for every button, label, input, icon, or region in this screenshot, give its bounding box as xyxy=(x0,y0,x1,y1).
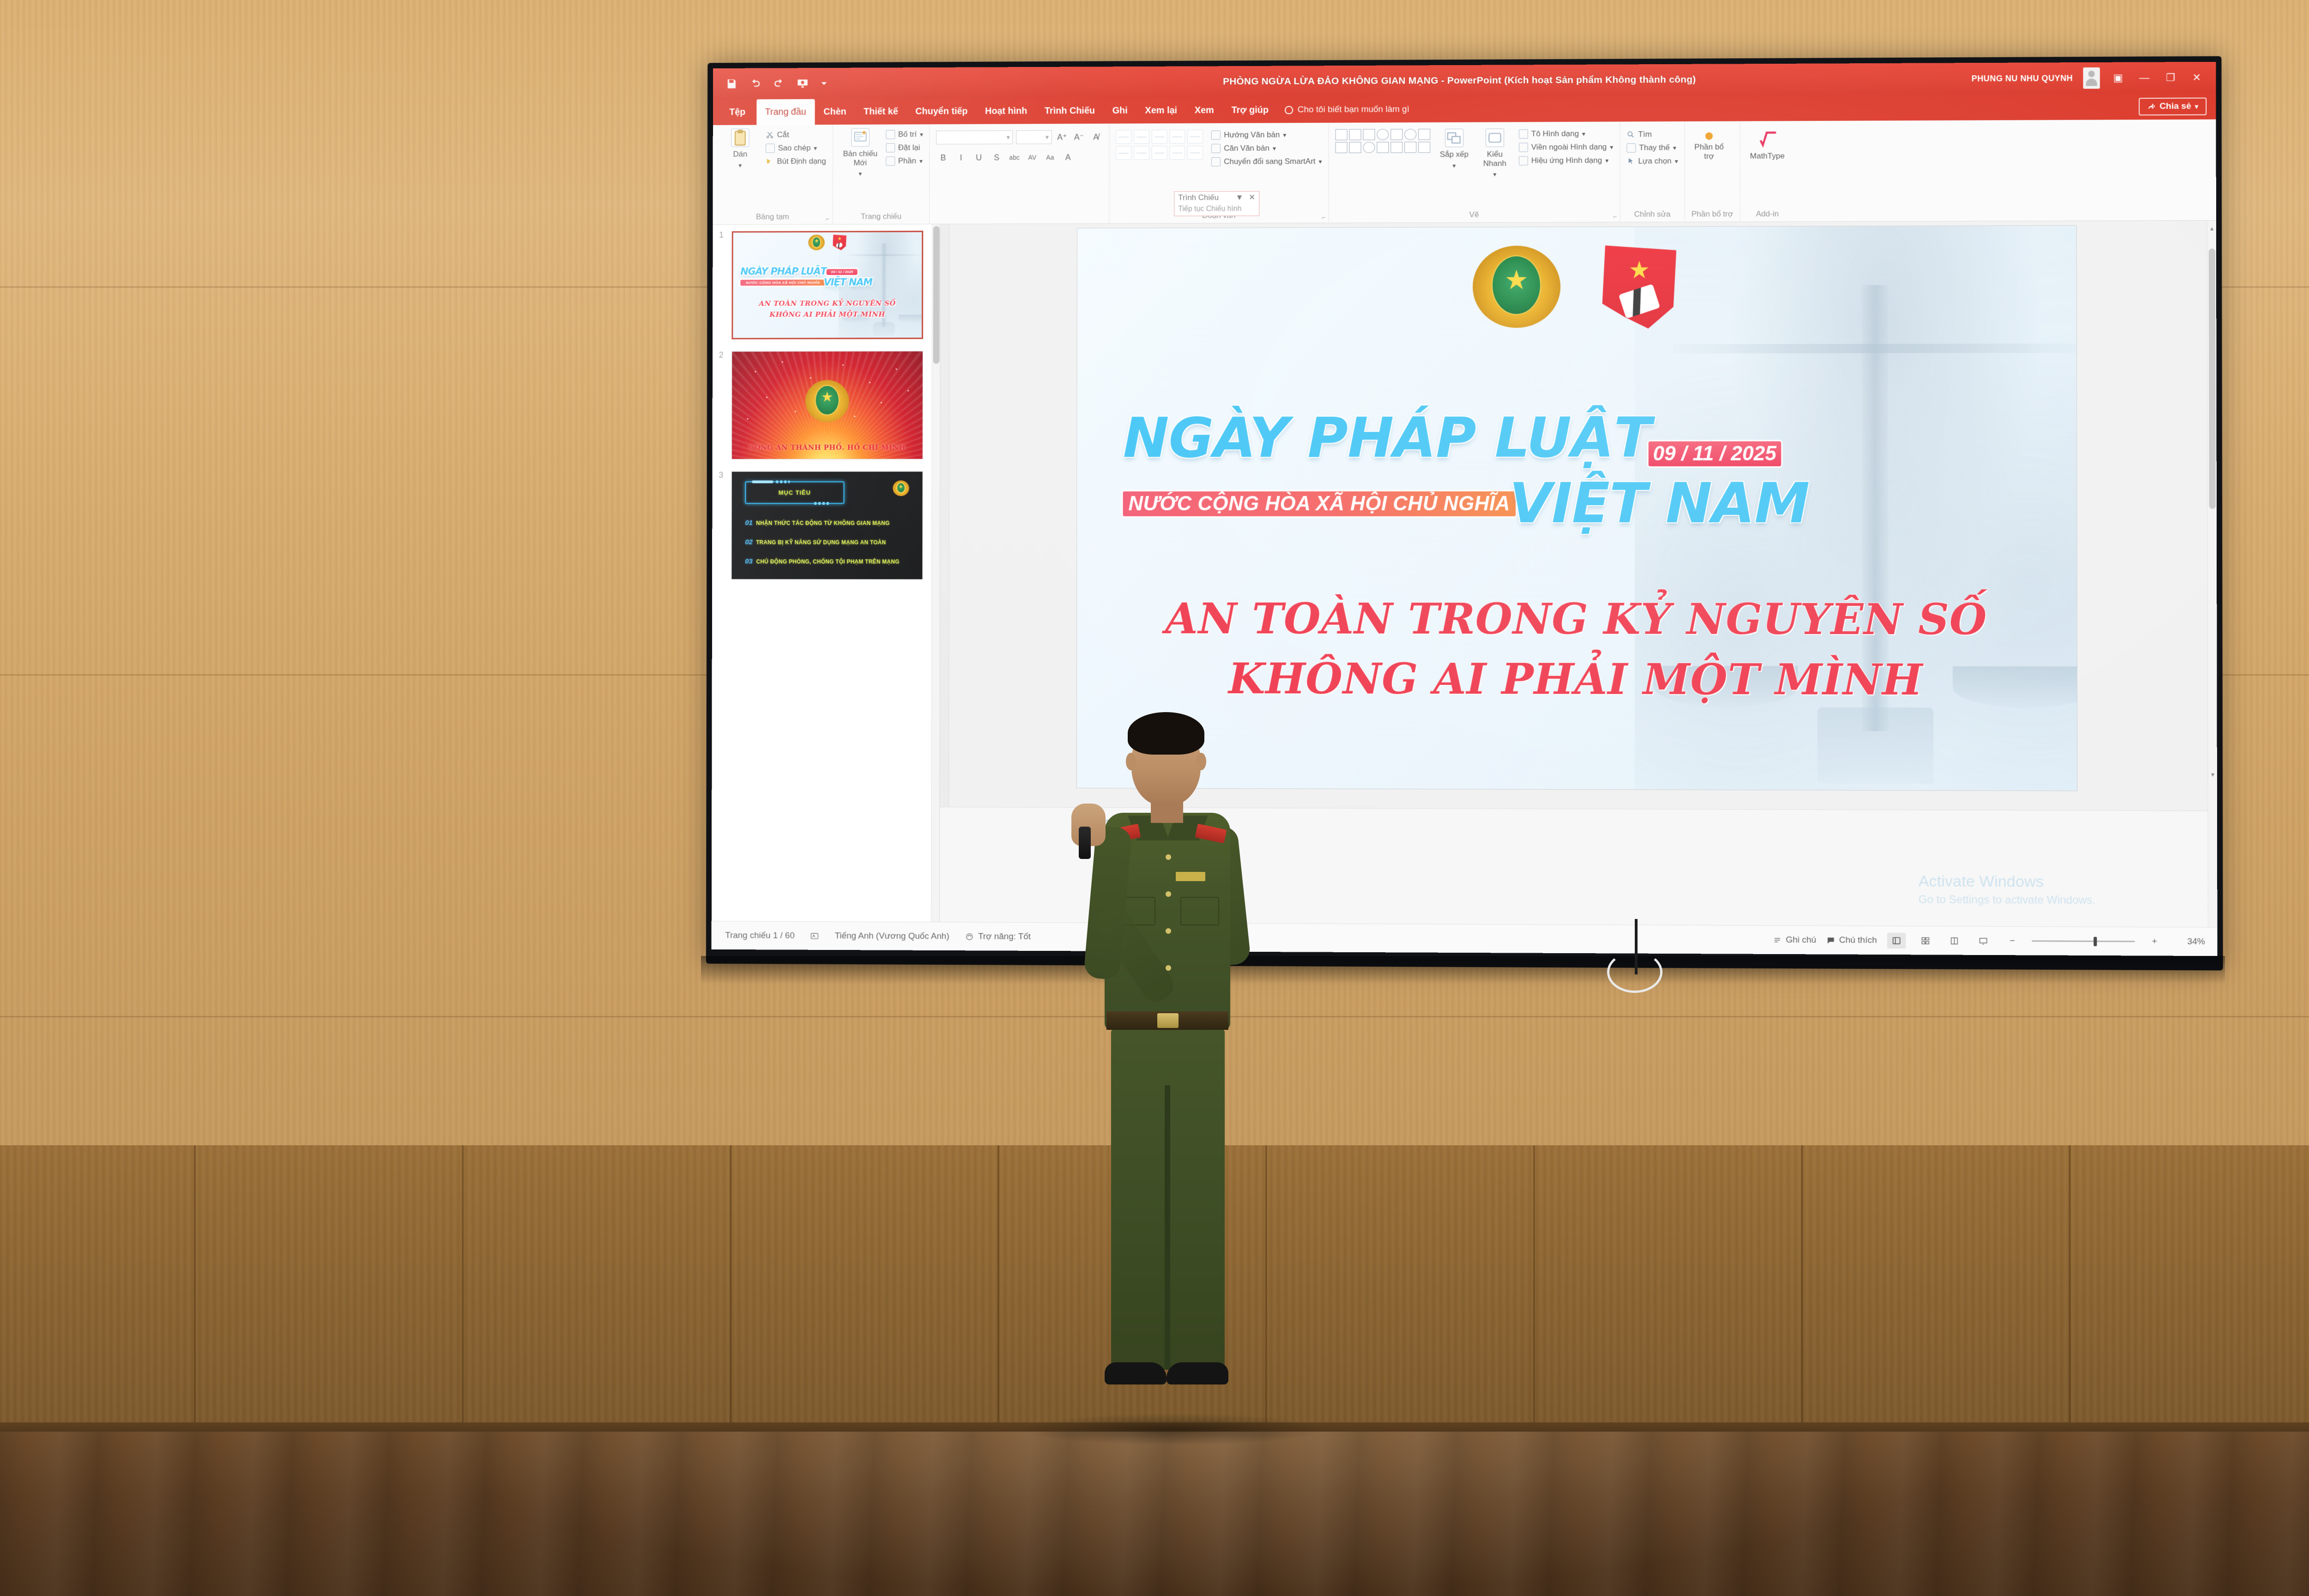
shape-diamond[interactable] xyxy=(1349,142,1361,153)
thumb3-item-text-1: NHẬN THỨC TÁC ĐỘNG TỪ KHÔNG GIAN MẠNG xyxy=(756,520,889,526)
arrange-icon xyxy=(1445,129,1463,147)
zoom-level[interactable]: 34% xyxy=(2174,937,2205,947)
align-right-button[interactable] xyxy=(1152,146,1167,160)
thumbnail-slide-1-wrap: 1 ★ ★ xyxy=(731,231,933,339)
thumbnail-number-2: 2 xyxy=(719,351,724,360)
decrease-font-size-button[interactable]: A⁻ xyxy=(1072,130,1086,144)
group-label-slides: Trang chiếu xyxy=(839,212,923,224)
undo-icon[interactable] xyxy=(750,78,762,90)
tell-me-label: Cho tôi biết bạn muốn làm gì xyxy=(1298,104,1409,115)
copy-label: Sao chép xyxy=(778,144,811,153)
share-button[interactable]: Chia sẻ ▾ xyxy=(2139,97,2207,115)
shape-rounded-rect[interactable] xyxy=(1390,129,1402,140)
tab-xem-lai[interactable]: Xem lại xyxy=(1136,97,1186,123)
zoom-slider[interactable] xyxy=(2032,937,2135,946)
cut-label: Cắt xyxy=(777,130,789,139)
thumbnail-slide-3[interactable]: MỤC TIÊU ★ 01 NHẬN THỨC TÁC ĐỘNG TỪ KHÔN… xyxy=(731,471,923,580)
format-painter-icon xyxy=(766,157,774,166)
group-label-editing: Chỉnh sửa xyxy=(1626,210,1678,222)
thumbnail-slide-1[interactable]: ★ ★ NGÀY PHÁP LUẬT09 / 11 / 2025 NƯỚC C xyxy=(731,231,923,339)
search-icon xyxy=(1626,130,1635,139)
mic-stand-ring xyxy=(1607,951,1662,993)
ribbon-group-editing: Tìm Thay thế▾ Lựa chọn▾ Chỉnh sửa xyxy=(1620,121,1685,222)
layout-button[interactable]: Bố trí▾ xyxy=(886,130,923,139)
close-button[interactable]: ✕ xyxy=(2189,70,2205,85)
activate-windows-watermark: Activate Windows Go to Settings to activ… xyxy=(1918,871,2095,908)
increase-indent-button[interactable] xyxy=(1170,130,1185,144)
thumbnail-slide-3-wrap: 3 MỤC TIÊU ★ 01 NH xyxy=(731,471,932,580)
shape-effects-button[interactable]: Hiệu ứng Hình dạng▾ xyxy=(1519,156,1613,165)
arrange-button[interactable]: Sắp xếp▾ xyxy=(1438,129,1471,169)
shape-textbox[interactable] xyxy=(1418,129,1430,140)
shape-star[interactable] xyxy=(1418,142,1430,153)
group-label-clipboard: Bảng tạm xyxy=(719,212,826,224)
quick-styles-button[interactable]: Kiểu Nhanh▾ xyxy=(1478,128,1511,178)
shape-oval[interactable] xyxy=(1377,129,1389,140)
font-name-box[interactable]: ▾ xyxy=(937,130,1013,144)
activate-windows-subtitle: Go to Settings to activate Windows. xyxy=(1918,892,2095,908)
slideshow-popup-close-icon[interactable]: ✕ xyxy=(1249,193,1255,202)
canvas-scrollbar-thumb[interactable] xyxy=(2209,248,2216,509)
format-painter-label: Bút Định dạng xyxy=(777,157,826,166)
slideshow-icon[interactable] xyxy=(1974,933,1992,949)
reset-icon xyxy=(886,143,895,152)
slide-thumbnail-pane[interactable]: 1 ★ ★ xyxy=(712,224,941,922)
paragraph-buttons[interactable] xyxy=(1116,130,1203,160)
align-text-button[interactable]: Căn Văn bản▾ xyxy=(1211,144,1322,153)
strikethrough-button[interactable]: abc xyxy=(1008,151,1022,164)
thumb3-item-num-2: 02 xyxy=(745,538,752,546)
convert-smartart-button[interactable]: Chuyển đổi sang SmartArt▾ xyxy=(1211,157,1322,167)
minimize-button[interactable]: — xyxy=(2136,70,2152,85)
slideshow-popup-subtitle: Tiếp tục Chiếu hình xyxy=(1174,204,1259,216)
mathtype-sqrt-icon xyxy=(1758,130,1777,149)
paste-button[interactable]: Dán ▾ xyxy=(719,128,761,169)
zoom-slider-knob[interactable] xyxy=(2094,937,2097,946)
tab-ghi[interactable]: Ghi xyxy=(1104,98,1136,124)
bullets-button[interactable] xyxy=(1116,130,1132,144)
copy-button[interactable]: Sao chép ▾ xyxy=(766,144,826,153)
ribbon-body: Dán ▾ Cắt Sao chép ▾ xyxy=(713,119,2216,225)
addins-button[interactable]: Phần bổ trợ xyxy=(1692,133,1727,161)
thumb1-date-chip: 09 / 11 / 2025 xyxy=(827,269,858,275)
activate-windows-title: Activate Windows xyxy=(1918,871,2095,893)
tab-chuyen-tiep[interactable]: Chuyển tiếp xyxy=(907,98,976,124)
thumb1-logo-line2: VIỆT NAM xyxy=(824,278,872,287)
replace-icon xyxy=(1626,143,1636,152)
copy-icon xyxy=(766,144,775,153)
slide-date-chip: 09 / 11 / 2025 xyxy=(1648,441,1781,466)
columns-button[interactable] xyxy=(1188,146,1203,160)
select-button[interactable]: Lựa chọn▾ xyxy=(1626,157,1678,166)
increase-font-size-button[interactable]: A⁺ xyxy=(1055,130,1069,144)
zoom-out-button[interactable]: − xyxy=(2003,933,2022,949)
lightbulb-icon xyxy=(1285,106,1293,114)
thumbnail-number-1: 1 xyxy=(719,230,724,240)
align-text-icon xyxy=(1211,144,1221,153)
tab-trang-dau[interactable]: Trang đầu xyxy=(756,99,815,125)
shape-effects-icon xyxy=(1519,156,1528,165)
shape-chevron[interactable] xyxy=(1390,142,1402,153)
thumbnail-scrollbar-thumb[interactable] xyxy=(933,226,940,364)
tab-chen[interactable]: Chèn xyxy=(815,99,855,125)
new-slide-button[interactable]: Bản chiếu Mới ▾ xyxy=(839,128,881,177)
cursor-icon xyxy=(1626,157,1635,165)
italic-button[interactable]: I xyxy=(954,151,968,164)
paste-label: Dán xyxy=(733,150,747,158)
tell-me-search[interactable]: Cho tôi biết bạn muốn làm gì xyxy=(1277,97,1409,123)
normal-view-icon[interactable] xyxy=(1887,932,1906,948)
slide-logo-line2: VIỆT NAM xyxy=(1509,478,1809,530)
ribbon-group-drawing: Sắp xếp▾ Kiểu Nhanh▾ Tô Hình dạng▾ Viền … xyxy=(1329,121,1620,223)
shadow-button[interactable]: S xyxy=(990,151,1003,164)
quick-access-toolbar[interactable] xyxy=(713,78,828,90)
drawing-dialog-launcher[interactable]: ⌐ xyxy=(1613,212,1617,220)
paste-icon xyxy=(731,129,749,147)
shape-callout[interactable] xyxy=(1404,142,1416,153)
shape-line[interactable] xyxy=(1335,129,1347,140)
zoom-in-button[interactable]: + xyxy=(2145,934,2164,949)
projection-screen: PHÒNG NGỪA LỪA ĐẢO KHÔNG GIAN MẠNG - Pow… xyxy=(712,62,2218,956)
tab-hoat-hinh[interactable]: Hoạt hình xyxy=(976,98,1036,124)
thumb2-caption: CÔNG AN THÀNH PHỐ. HỒ CHÍ MINH xyxy=(732,443,923,451)
titlebar-right-group: PHUNG NU NHU QUYNH ▣ — ❐ ✕ xyxy=(1971,67,2205,89)
slide-headline-1: AN TOÀN TRONG KỶ NGUYÊN SỐ xyxy=(1077,592,2077,647)
underline-button[interactable]: U xyxy=(972,151,986,164)
youth-union-emblem-icon: ★ xyxy=(833,235,846,250)
canvas-vertical-scrollbar[interactable]: ▲ ▼ xyxy=(2207,221,2218,927)
mathtype-button[interactable]: MathType xyxy=(1747,130,1789,161)
format-painter-button[interactable]: Bút Định dạng xyxy=(766,157,826,166)
redo-icon[interactable] xyxy=(773,78,785,90)
character-spacing-button[interactable]: AV xyxy=(1025,151,1039,164)
thumb1-logo-line1: NGÀY PHÁP LUẬT xyxy=(740,266,826,277)
thumbnail-slide-2-wrap: 2 xyxy=(731,351,933,459)
language-indicator[interactable]: Tiếng Anh (Vương Quốc Anh) xyxy=(835,931,949,942)
change-case-button[interactable]: Aa xyxy=(1043,151,1057,164)
spellcheck-icon[interactable] xyxy=(810,931,819,940)
cut-button[interactable]: Cắt xyxy=(766,130,826,139)
police-emblem-icon: ★ xyxy=(893,480,909,496)
notes-toggle-button[interactable]: Ghi chú xyxy=(1773,935,1816,945)
scissors-icon xyxy=(766,131,774,139)
thumb3-item-text-2: TRANG BỊ KỸ NĂNG SỬ DỤNG MẠNG AN TOÀN xyxy=(756,539,886,546)
tab-tro-giup[interactable]: Trợ giúp xyxy=(1223,97,1277,123)
bold-button[interactable]: B xyxy=(936,151,950,165)
group-label-drawing: Vẽ xyxy=(1335,210,1613,223)
clipboard-dialog-launcher[interactable]: ⌐ xyxy=(826,215,829,222)
police-emblem-icon: ★ xyxy=(805,380,849,422)
text-direction-button[interactable]: Hướng Văn bản▾ xyxy=(1211,130,1322,140)
shape-fill-icon xyxy=(1519,129,1528,139)
youth-union-emblem-icon: ★ xyxy=(1602,245,1677,328)
align-left-button[interactable] xyxy=(1116,146,1132,160)
reset-button[interactable]: Đặt lại xyxy=(886,143,923,152)
police-emblem-icon: ★ xyxy=(809,235,825,250)
shape-outline-button[interactable]: Viền ngoài Hình dạng▾ xyxy=(1519,142,1613,152)
slide-logo-line1: NGÀY PHÁP LUẬT xyxy=(1123,406,1651,471)
numbering-button[interactable] xyxy=(1134,130,1149,144)
shape-triangle[interactable] xyxy=(1335,142,1347,153)
slide-counter[interactable]: Trang chiếu 1 / 60 xyxy=(725,931,795,941)
thumb1-headline-2: KHÔNG AI PHẢI MỘT MÌNH xyxy=(733,310,922,319)
powerpoint-window: PHÒNG NGỪA LỪA ĐẢO KHÔNG GIAN MẠNG - Pow… xyxy=(712,62,2218,956)
tab-trinh-chieu[interactable]: Trình Chiếu xyxy=(1036,98,1104,124)
shape-outline-icon xyxy=(1519,143,1528,152)
new-slide-label: Bản chiếu Mới xyxy=(839,149,881,167)
ribbon-group-slides: Bản chiếu Mới ▾ Bố trí▾ Đặt lại Phần▾ Tr… xyxy=(833,124,930,224)
paragraph-dialog-launcher[interactable]: ⌐ xyxy=(1322,213,1325,221)
thumbnail-scrollbar[interactable] xyxy=(931,224,940,922)
restore-button[interactable]: ❐ xyxy=(2163,70,2178,85)
thumbnail-number-3: 3 xyxy=(719,471,723,480)
slide-sorter-icon[interactable] xyxy=(1916,932,1934,948)
thumb1-logo-sub: NƯỚC CỘNG HÒA XÃ HỘI CHỦ NGHĨA xyxy=(740,280,825,286)
align-center-button[interactable] xyxy=(1134,146,1149,160)
start-slideshow-icon[interactable] xyxy=(797,78,809,90)
font-size-box[interactable]: ▾ xyxy=(1016,130,1052,144)
justify-button[interactable] xyxy=(1170,146,1185,160)
font-color-button[interactable]: A xyxy=(1061,151,1075,164)
accessibility-status[interactable]: Trợ năng: Tốt xyxy=(965,931,1031,942)
shape-rect[interactable] xyxy=(1363,129,1375,140)
slide-logo-sub: NƯỚC CỘNG HÒA XÃ HỘI CHỦ NGHĨA xyxy=(1123,491,1516,516)
clear-formatting-button[interactable]: A̸ xyxy=(1089,130,1103,144)
find-button[interactable]: Tìm xyxy=(1626,130,1678,139)
new-slide-icon xyxy=(851,128,870,147)
shape-arrow[interactable] xyxy=(1349,129,1361,140)
account-name[interactable]: PHUNG NU NHU QUYNH xyxy=(1971,73,2073,84)
decrease-indent-button[interactable] xyxy=(1152,130,1167,144)
replace-button[interactable]: Thay thế▾ xyxy=(1626,143,1678,152)
line-spacing-button[interactable] xyxy=(1188,130,1203,144)
thumb3-item-num-3: 03 xyxy=(745,557,752,565)
ribbon-group-addins: Phần bổ trợ Phần bổ trợ xyxy=(1685,121,1740,222)
tab-tep[interactable]: Tệp xyxy=(719,99,756,125)
quick-styles-icon xyxy=(1486,128,1504,147)
thumbnail-slide-2[interactable]: ★ CÔNG AN THÀNH PHỐ. HỒ CHÍ MINH xyxy=(731,351,923,459)
shape-circle[interactable] xyxy=(1404,129,1416,140)
tab-xem[interactable]: Xem xyxy=(1186,97,1223,123)
slideshow-popup-caret-icon[interactable]: ▼ xyxy=(1235,193,1243,202)
shape-pentagon[interactable] xyxy=(1377,142,1389,153)
shape-fill-button[interactable]: Tô Hình dạng▾ xyxy=(1519,129,1613,139)
group-label-addin: Add-in xyxy=(1747,209,1788,221)
ribbon-display-options-icon[interactable]: ▣ xyxy=(2110,70,2126,86)
share-label: Chia sẻ xyxy=(2159,101,2191,111)
share-icon xyxy=(2147,103,2156,111)
shape-gallery[interactable] xyxy=(1335,129,1430,153)
presenter-person xyxy=(1062,688,1284,1473)
thumb3-item-text-3: CHỦ ĐỘNG PHÒNG, CHỐNG TỘI PHẠM TRÊN MẠNG xyxy=(756,558,900,565)
reading-view-icon[interactable] xyxy=(1945,933,1964,949)
work-area: 1 ★ ★ xyxy=(712,221,2218,927)
comments-label: Chú thích xyxy=(1839,935,1877,945)
slideshow-popup-title: Trình Chiếu xyxy=(1178,193,1219,202)
shape-ellipse[interactable] xyxy=(1363,142,1375,153)
avatar[interactable] xyxy=(2083,67,2100,89)
addin-dot-icon xyxy=(1705,133,1713,140)
thumb1-headline-1: AN TOÀN TRONG KỶ NGUYÊN SỐ xyxy=(733,299,922,308)
customize-qat-icon[interactable] xyxy=(820,80,828,87)
group-label-addins: Phần bổ trợ xyxy=(1692,210,1733,222)
smartart-icon xyxy=(1211,157,1221,166)
text-direction-icon xyxy=(1211,131,1221,140)
tab-thiet-ke[interactable]: Thiết kế xyxy=(855,99,907,125)
slideshow-popup[interactable]: Trình Chiếu ▼ ✕ Tiếp tục Chiếu hình xyxy=(1174,191,1259,216)
thumb3-title: MỤC TIÊU xyxy=(745,481,845,504)
thumb3-item-num-1: 01 xyxy=(745,519,752,527)
section-button[interactable]: Phần▾ xyxy=(886,157,923,166)
notes-toggle-label: Ghi chú xyxy=(1786,935,1816,945)
comments-button[interactable]: Chú thích xyxy=(1826,935,1877,946)
section-icon xyxy=(886,157,895,166)
ribbon-group-font: ▾ ▾ A⁺ A⁻ A̸ B I U S abc AV Aa A xyxy=(930,124,1109,224)
ribbon-group-clipboard: Dán ▾ Cắt Sao chép ▾ xyxy=(713,125,833,224)
ribbon-group-addin: MathType Add-in xyxy=(1740,121,1795,222)
layout-icon xyxy=(886,130,895,139)
accessibility-label: Trợ năng: Tốt xyxy=(978,931,1031,942)
save-icon[interactable] xyxy=(725,78,737,90)
police-emblem-icon: ★ xyxy=(1473,246,1560,328)
